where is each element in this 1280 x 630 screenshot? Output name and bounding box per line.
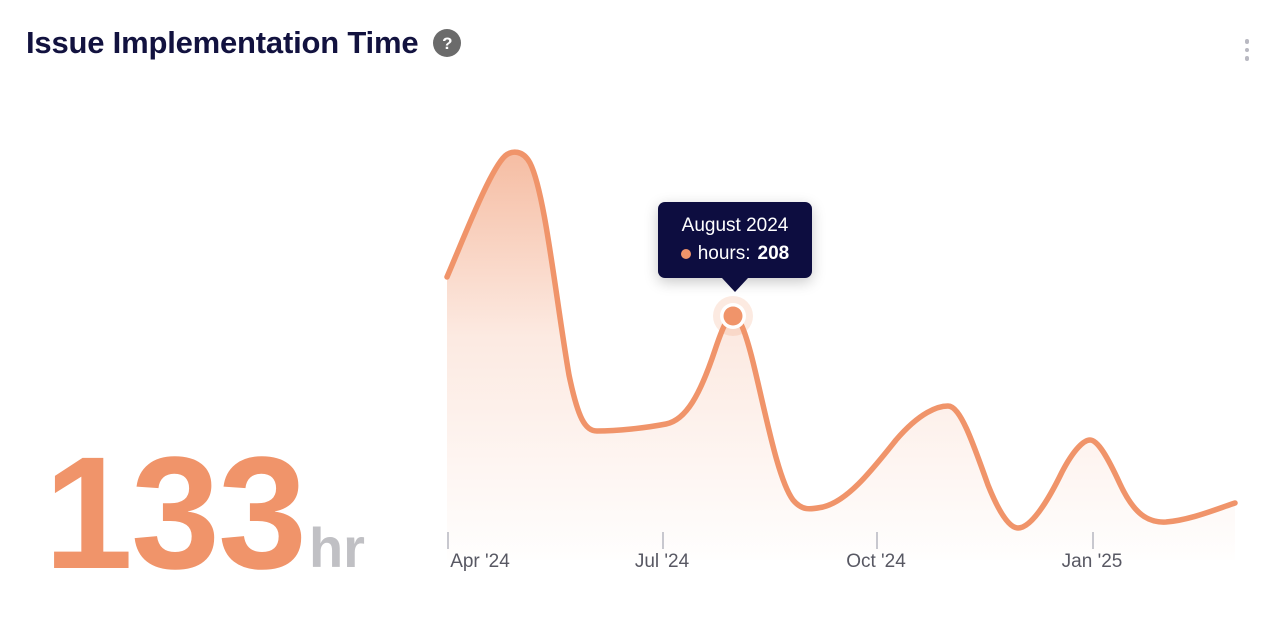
chart-line	[447, 152, 1235, 528]
chart-area-fill	[447, 152, 1235, 560]
question-mark-icon[interactable]: ?	[433, 29, 461, 57]
active-point-halo	[713, 296, 753, 336]
stat-unit: hr	[309, 520, 365, 576]
kebab-dot	[1245, 48, 1250, 53]
series-color-dot-icon	[681, 249, 691, 259]
page-title: Issue Implementation Time	[26, 26, 418, 60]
axis-tick-mark	[662, 532, 664, 549]
tooltip-series-label: hours:	[698, 243, 751, 265]
tooltip-value: 208	[758, 243, 790, 265]
axis-tick-mark	[447, 532, 449, 549]
kebab-dot	[1245, 56, 1250, 61]
active-point-ring	[720, 303, 746, 329]
kebab-dot	[1245, 39, 1250, 44]
tooltip-series-row: hours: 208	[658, 243, 812, 265]
kebab-menu-icon[interactable]	[1234, 32, 1260, 68]
primary-stat: 133 hr	[44, 447, 365, 578]
axis-tick-mark	[876, 532, 878, 549]
axis-label-jul-24: Jul '24	[635, 551, 689, 573]
active-point-marker[interactable]	[724, 307, 743, 326]
axis-label-oct-24: Oct '24	[846, 551, 906, 573]
axis-tick-mark	[1092, 532, 1094, 549]
tooltip-title: August 2024	[658, 214, 812, 238]
chart-tooltip: August 2024 hours: 208	[658, 202, 812, 278]
stat-value: 133	[44, 447, 305, 578]
card-header: Issue Implementation Time ?	[0, 0, 1280, 98]
axis-label-apr-24: Apr '24	[450, 551, 510, 573]
issue-implementation-time-card: Issue Implementation Time ?	[0, 0, 1280, 630]
title-row: Issue Implementation Time ?	[26, 26, 461, 60]
axis-label-jan-25: Jan '25	[1062, 551, 1123, 573]
